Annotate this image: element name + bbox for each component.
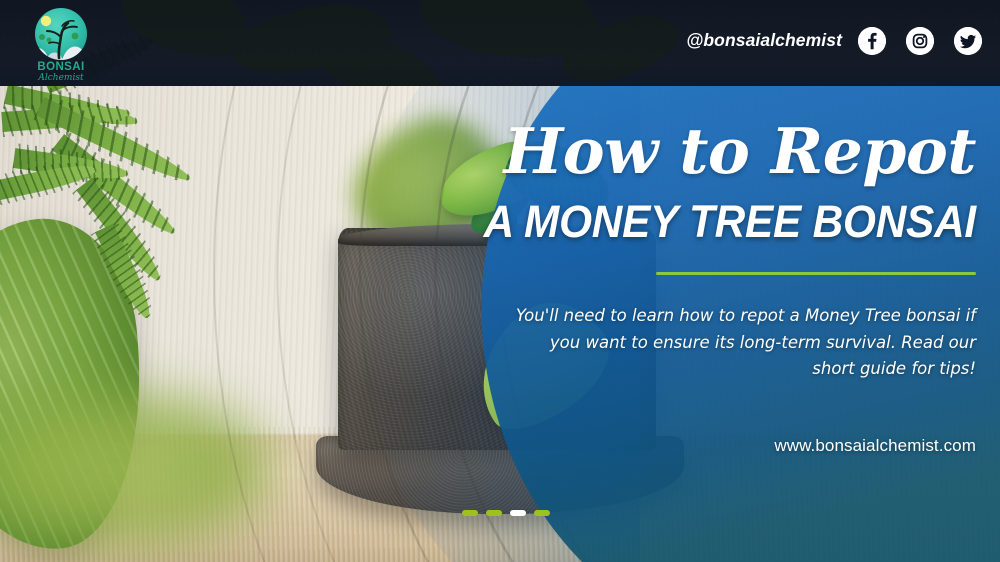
slide-indicator-dash[interactable] [510, 510, 526, 516]
slide-indicator-dash[interactable] [486, 510, 502, 516]
slide-indicator-dash[interactable] [462, 510, 478, 516]
instagram-icon [906, 27, 934, 55]
twitter-button[interactable] [954, 27, 982, 55]
facebook-icon [858, 27, 886, 55]
hero-blurb: You'll need to learn how to repot a Mone… [506, 303, 976, 383]
brand-name-top: BONSAI [37, 61, 84, 73]
social-links [858, 27, 982, 55]
brand-name-bottom: Alchemist [37, 73, 84, 82]
header-foliage-texture [0, 0, 1000, 86]
brand-logo[interactable]: BONSAI Alchemist [18, 6, 104, 82]
facebook-button[interactable] [858, 27, 886, 55]
slide-indicator-dash[interactable] [534, 510, 550, 516]
header-bar: BONSAI Alchemist @bonsaialchemist [0, 0, 1000, 86]
featured-image-banner: BONSAI Alchemist @bonsaialchemist [0, 0, 1000, 562]
accent-divider [656, 272, 976, 275]
hero-title-bold: A MONEY TREE BONSAI [393, 199, 976, 244]
website-url[interactable]: www.bonsaialchemist.com [356, 436, 976, 456]
instagram-button[interactable] [906, 27, 934, 55]
social-handle[interactable]: @bonsaialchemist [686, 30, 842, 51]
hero-title-script: How to Repot [356, 120, 976, 183]
twitter-icon [954, 27, 982, 55]
slide-indicators [462, 510, 550, 516]
hero-content: How to Repot A MONEY TREE BONSAI You'll … [356, 86, 976, 456]
bonsai-tree-circle-logo: BONSAI Alchemist [18, 6, 104, 82]
